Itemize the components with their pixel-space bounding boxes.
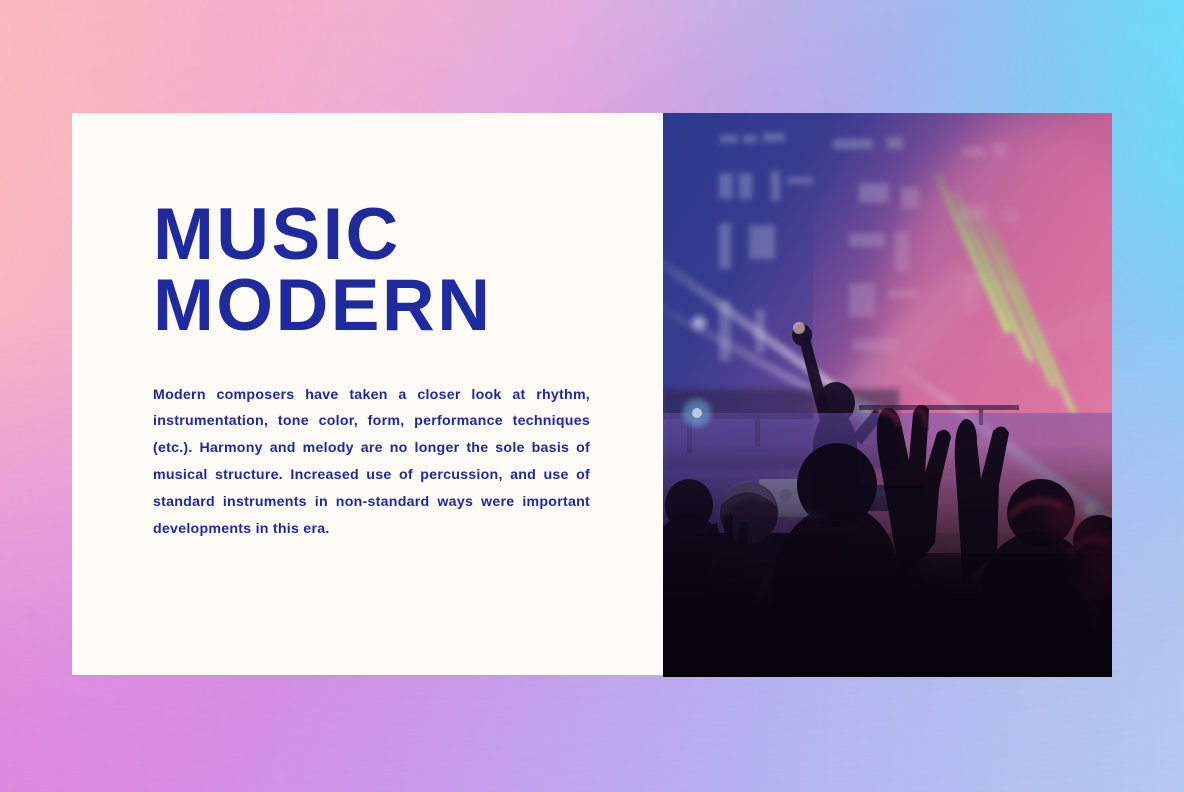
concert-photo-illustration — [663, 113, 1112, 677]
concert-photo — [663, 113, 1112, 677]
content-card: MUSIC MODERN Modern composers have taken… — [72, 113, 663, 675]
page-title: MUSIC MODERN — [153, 200, 623, 342]
card-inner: MUSIC MODERN Modern composers have taken… — [153, 200, 623, 542]
body-paragraph: Modern composers have taken a closer loo… — [153, 382, 590, 543]
slide-root: MUSIC MODERN Modern composers have taken… — [0, 0, 1184, 792]
